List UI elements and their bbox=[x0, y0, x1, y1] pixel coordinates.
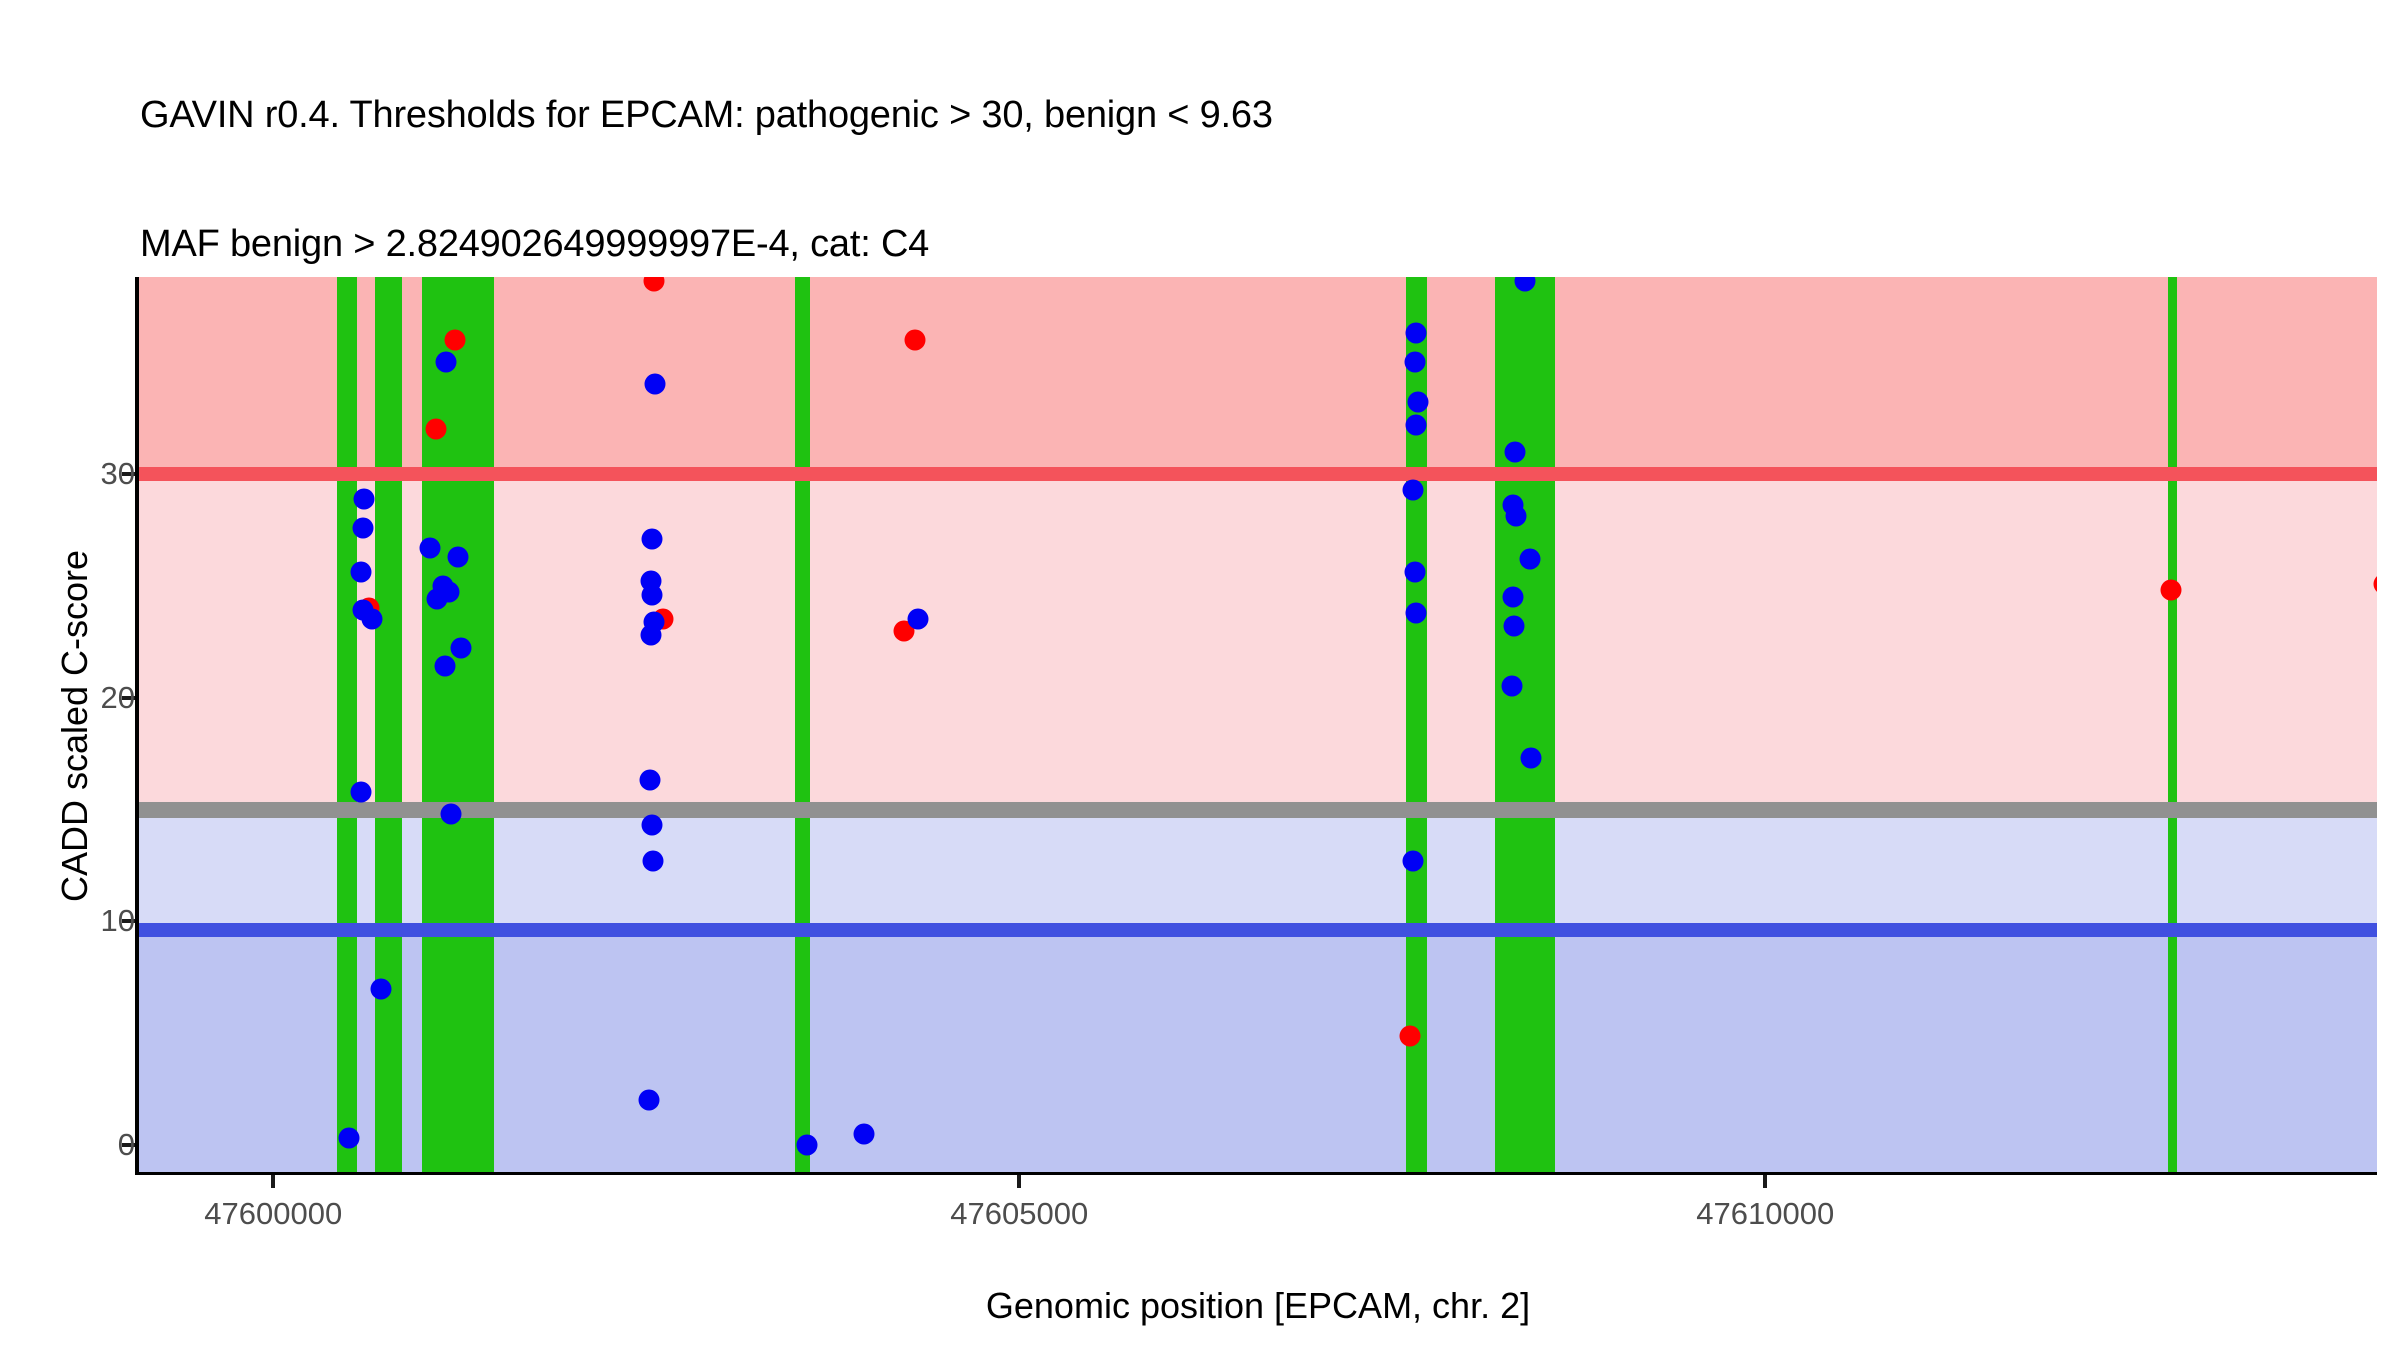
gnomad-variant-point bbox=[419, 537, 440, 558]
gnomad-variant-point bbox=[451, 638, 472, 659]
gnomad-variant-point bbox=[1521, 748, 1542, 769]
x-tick-label: 47600000 bbox=[73, 1196, 473, 1232]
y-tick-label: 0 bbox=[0, 1127, 135, 1163]
exon-marker bbox=[375, 277, 402, 1172]
gnomad-variant-point bbox=[797, 1135, 818, 1156]
gnomad-variant-point bbox=[434, 656, 455, 677]
gnomad-variant-point bbox=[354, 488, 375, 509]
gnomad-variant-point bbox=[1407, 392, 1428, 413]
gnomad-variant-point bbox=[1501, 676, 1522, 697]
gnomad-variant-point bbox=[427, 589, 448, 610]
gnomad-variant-point bbox=[1403, 479, 1424, 500]
exon-marker bbox=[795, 277, 810, 1172]
pathogenic-variant-point bbox=[904, 329, 925, 350]
x-tick-mark bbox=[1017, 1175, 1021, 1188]
gnomad-variant-point bbox=[1406, 602, 1427, 623]
gnomad-variant-point bbox=[1406, 322, 1427, 343]
gnomad-variant-point bbox=[352, 517, 373, 538]
gnomad-variant-point bbox=[436, 352, 457, 373]
gnomad-variant-point bbox=[641, 584, 662, 605]
plot-root: GAVIN r0.4. Thresholds for EPCAM: pathog… bbox=[0, 0, 2400, 1350]
gnomad-variant-point bbox=[440, 804, 461, 825]
x-tick-mark bbox=[1763, 1175, 1767, 1188]
gnomad-variant-point bbox=[1503, 586, 1524, 607]
y-tick-label: 30 bbox=[0, 456, 135, 492]
gnomad-variant-point bbox=[370, 978, 391, 999]
pathogenic-threshold-line bbox=[139, 467, 2377, 481]
plot-panel-inner bbox=[139, 277, 2377, 1172]
gnomad-variant-point bbox=[1404, 352, 1425, 373]
gnomad-variant-point bbox=[640, 625, 661, 646]
pathogenic-variant-point bbox=[445, 329, 466, 350]
exon-marker bbox=[2168, 277, 2177, 1172]
y-tick-label: 20 bbox=[0, 680, 135, 716]
gnomad-variant-point bbox=[1504, 441, 1525, 462]
gnomad-variant-point bbox=[1506, 506, 1527, 527]
gnomad-variant-point bbox=[351, 781, 372, 802]
y-tick-label: 10 bbox=[0, 903, 135, 939]
exon-marker bbox=[1495, 277, 1555, 1172]
x-tick-label: 47610000 bbox=[1565, 1196, 1965, 1232]
gnomad-variant-point bbox=[1406, 414, 1427, 435]
pathogenic-variant-point bbox=[425, 419, 446, 440]
gnomad-variant-point bbox=[642, 850, 663, 871]
plot-title-line-1: GAVIN r0.4. Thresholds for EPCAM: pathog… bbox=[140, 94, 2340, 137]
gnomad-variant-point bbox=[1404, 562, 1425, 583]
x-axis-title: Genomic position [EPCAM, chr. 2] bbox=[139, 1285, 2377, 1327]
plot-panel bbox=[139, 277, 2377, 1172]
benign-threshold-line bbox=[139, 923, 2377, 937]
gnomad-variant-point bbox=[642, 528, 663, 549]
x-tick-label: 47605000 bbox=[819, 1196, 1219, 1232]
pathogenic-variant-point bbox=[1400, 1025, 1421, 1046]
fallback-threshold-line bbox=[139, 802, 2377, 818]
plot-title-line-2: MAF benign > 2.824902649999997E-4, cat: … bbox=[140, 223, 2340, 266]
x-tick-mark bbox=[271, 1175, 275, 1188]
pathogenic-variant-point bbox=[2161, 580, 2182, 601]
gnomad-variant-point bbox=[642, 815, 663, 836]
gnomad-variant-point bbox=[1503, 616, 1524, 637]
gnomad-variant-point bbox=[361, 609, 382, 630]
gnomad-variant-point bbox=[339, 1128, 360, 1149]
exon-marker bbox=[422, 277, 494, 1172]
gnomad-variant-point bbox=[907, 609, 928, 630]
gnomad-variant-point bbox=[854, 1123, 875, 1144]
gnomad-variant-point bbox=[645, 374, 666, 395]
exon-marker bbox=[337, 277, 356, 1172]
gnomad-variant-point bbox=[1403, 850, 1424, 871]
gnomad-variant-point bbox=[639, 1090, 660, 1111]
gnomad-variant-point bbox=[640, 770, 661, 791]
y-axis-title: CADD scaled C-score bbox=[54, 316, 96, 1136]
gnomad-variant-point bbox=[448, 546, 469, 567]
gnomad-variant-point bbox=[1519, 548, 1540, 569]
gnomad-variant-point bbox=[351, 562, 372, 583]
